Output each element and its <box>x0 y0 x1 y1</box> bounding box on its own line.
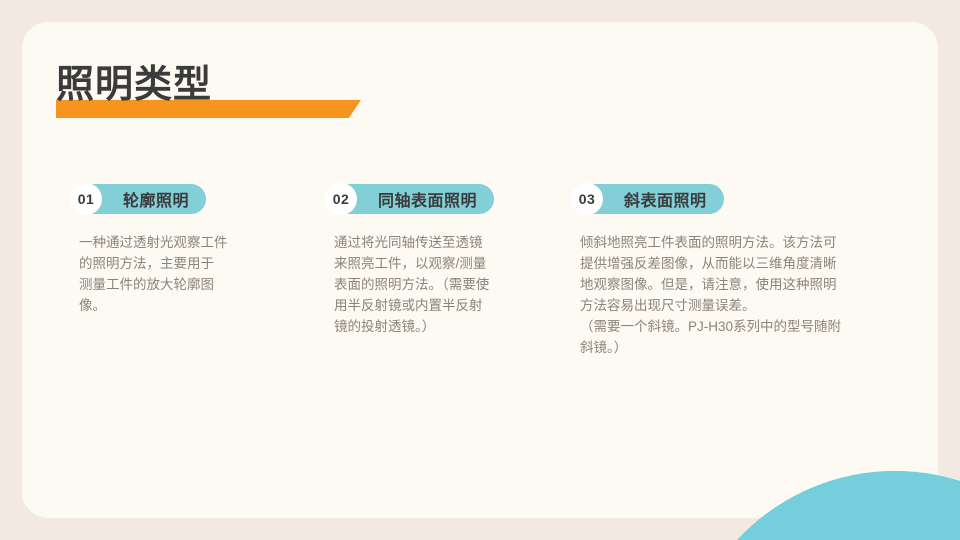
badge-label-01: 轮廓照明 <box>123 187 189 211</box>
lighting-type-columns: 01 轮廓照明 一种通过透射光观察工件 的照明方法，主要用于 测量工件的放大轮廓… <box>0 0 960 540</box>
badge-number-02: 02 <box>333 191 350 207</box>
badge-number-01: 01 <box>78 191 95 207</box>
slide-root: 照明类型 01 轮廓照明 一种通过透射光观察工件 的照明方法，主要用于 测量工件… <box>0 0 960 540</box>
badge-label-03: 斜表面照明 <box>624 187 707 211</box>
badge-number-circle-02: 02 <box>325 183 357 215</box>
lighting-type-item-02: 02 同轴表面照明 通过将光同轴传送至透镜 来照亮工件，以观察/测量 表面的照明… <box>334 184 564 337</box>
badge-number-circle-03: 03 <box>571 183 603 215</box>
body-text-03: 倾斜地照亮工件表面的照明方法。该方法可 提供增强反差图像，从而能以三维角度清晰 … <box>580 232 900 358</box>
badge-01[interactable]: 01 轮廓照明 <box>79 184 206 214</box>
lighting-type-item-03: 03 斜表面照明 倾斜地照亮工件表面的照明方法。该方法可 提供增强反差图像，从而… <box>580 184 900 358</box>
badge-number-circle-01: 01 <box>70 183 102 215</box>
badge-03[interactable]: 03 斜表面照明 <box>580 184 724 214</box>
badge-label-02: 同轴表面照明 <box>378 187 477 211</box>
lighting-type-item-01: 01 轮廓照明 一种通过透射光观察工件 的照明方法，主要用于 测量工件的放大轮廓… <box>79 184 309 316</box>
badge-number-03: 03 <box>579 191 596 207</box>
body-text-02: 通过将光同轴传送至透镜 来照亮工件，以观察/测量 表面的照明方法。（需要使 用半… <box>334 232 564 337</box>
body-text-01: 一种通过透射光观察工件 的照明方法，主要用于 测量工件的放大轮廓图 像。 <box>79 232 309 316</box>
badge-02[interactable]: 02 同轴表面照明 <box>334 184 494 214</box>
